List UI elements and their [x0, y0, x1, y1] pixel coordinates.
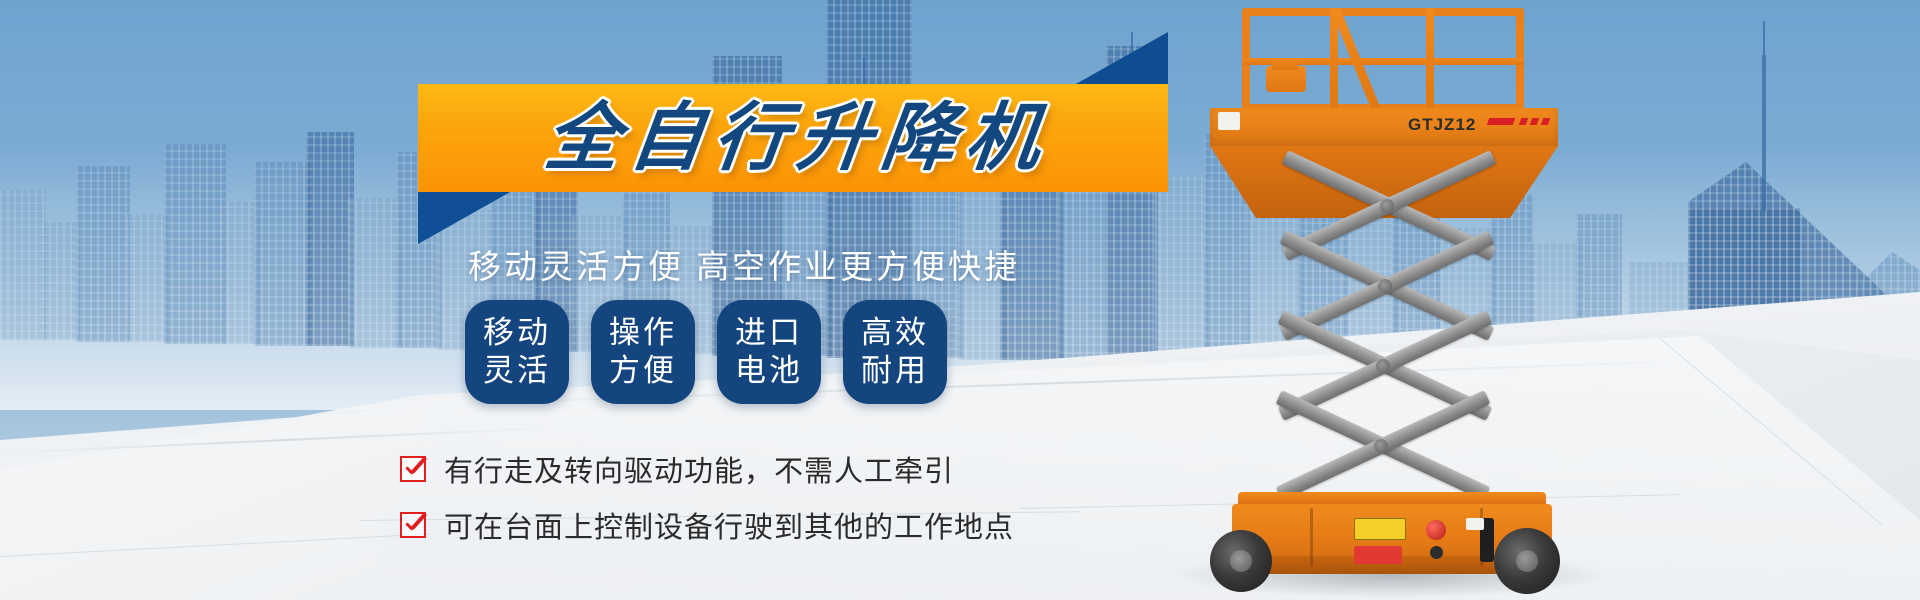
banner-corner-triangle-bottom-left: [418, 192, 510, 244]
badge-line-2: 方便: [609, 352, 677, 390]
promo-banner: 全自行升降机 移动灵活方便 高空作业更方便快捷 移动 灵活 操作 方便 进口 电…: [0, 0, 1920, 600]
badge-line-2: 电池: [735, 352, 803, 390]
checkmark-icon: [400, 456, 426, 482]
feature-badge[interactable]: 操作 方便: [591, 300, 695, 404]
badge-line-1: 移动: [483, 314, 551, 352]
bullet-item: 可在台面上控制设备行驶到其他的工作地点: [400, 504, 1014, 546]
page-title: 全自行升降机: [531, 101, 1054, 175]
warning-sticker-red: [1354, 546, 1402, 564]
warning-sticker-yellow: [1354, 518, 1406, 540]
title-banner: 全自行升降机: [418, 84, 1168, 192]
badge-line-2: 耐用: [861, 352, 929, 390]
scissor-lift-product-image: GTJZ12: [1180, 0, 1600, 600]
banner-corner-triangle-top-right: [1076, 32, 1168, 84]
indicator-lamp-dark: [1430, 546, 1443, 559]
badge-line-1: 高效: [861, 314, 929, 352]
feature-badge-list: 移动 灵活 操作 方便 进口 电池 高效 耐用: [465, 300, 947, 404]
indicator-lamp-red: [1426, 520, 1446, 540]
badge-line-1: 进口: [735, 314, 803, 352]
feature-badge[interactable]: 进口 电池: [717, 300, 821, 404]
feature-badge[interactable]: 移动 灵活: [465, 300, 569, 404]
bullet-text: 有行走及转向驱动功能，不需人工牵引: [444, 448, 954, 490]
badge-line-1: 操作: [609, 314, 677, 352]
feature-bullet-list: 有行走及转向驱动功能，不需人工牵引 可在台面上控制设备行驶到其他的工作地点: [400, 448, 1014, 546]
bullet-text: 可在台面上控制设备行驶到其他的工作地点: [444, 504, 1014, 546]
checkmark-icon: [400, 512, 426, 538]
feature-badge[interactable]: 高效 耐用: [843, 300, 947, 404]
model-decal: GTJZ12: [1408, 115, 1476, 135]
bullet-item: 有行走及转向驱动功能，不需人工牵引: [400, 448, 1014, 490]
badge-line-2: 灵活: [483, 352, 551, 390]
subtitle: 移动灵活方便 高空作业更方便快捷: [468, 240, 1168, 288]
platform-deck: [1210, 108, 1558, 148]
